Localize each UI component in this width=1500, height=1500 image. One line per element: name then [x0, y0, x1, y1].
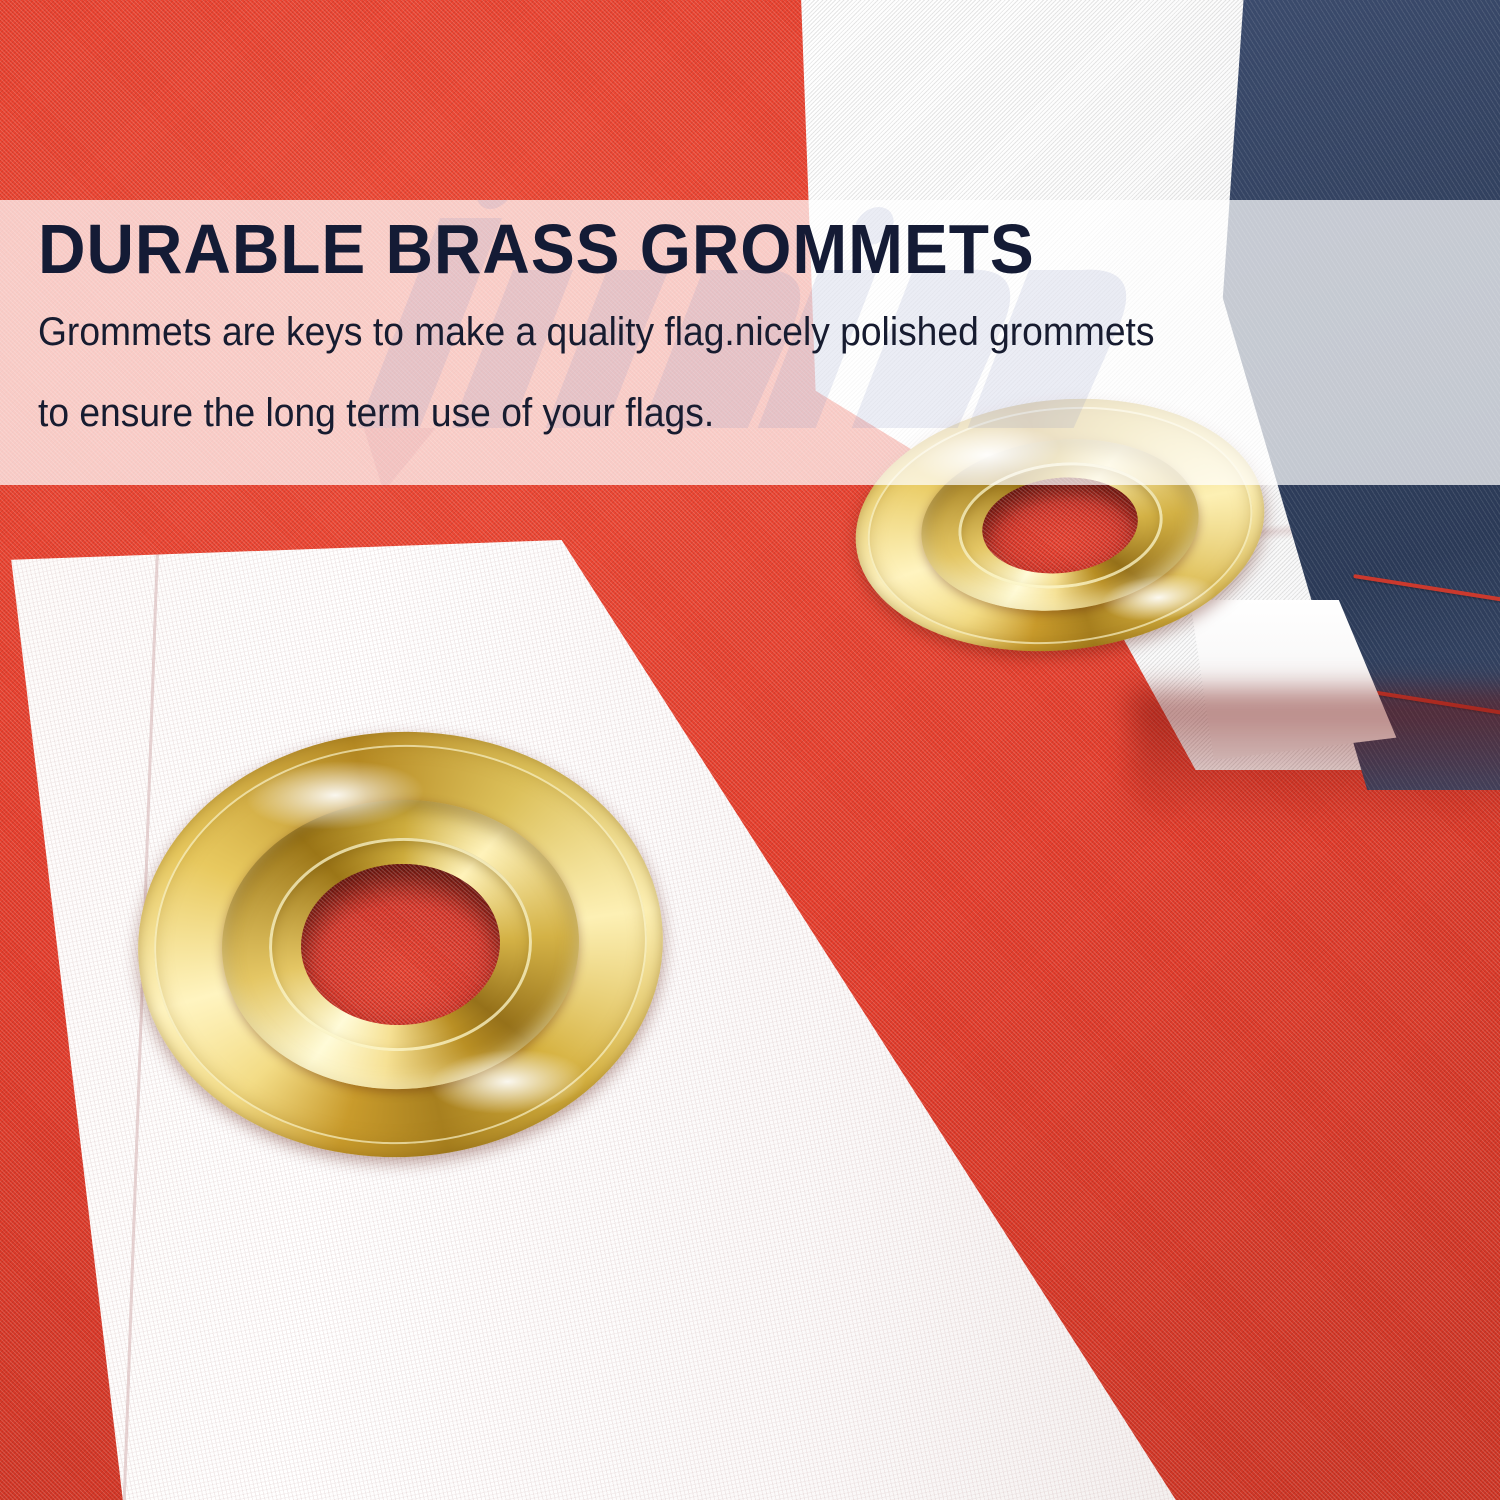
text-overlay-band: DURABLE BRASS GROMMETS Grommets are keys…: [0, 200, 1500, 485]
banner-description-line-1: Grommets are keys to make a quality flag…: [38, 284, 1360, 365]
banner-description-line-2: to ensure the long term use of your flag…: [38, 365, 1360, 446]
grommet-front-hole: [297, 859, 505, 1031]
back-flag-drop-shadow: [1130, 690, 1500, 830]
grommet-front: [127, 719, 674, 1171]
grommet-back-hole-fabric: [978, 470, 1143, 581]
grommet-front-hole-fabric: [297, 859, 505, 1031]
grommet-back-hole: [978, 470, 1143, 581]
product-image: DURABLE BRASS GROMMETS Grommets are keys…: [0, 0, 1500, 1500]
page-title: DURABLE BRASS GROMMETS: [38, 214, 1375, 284]
